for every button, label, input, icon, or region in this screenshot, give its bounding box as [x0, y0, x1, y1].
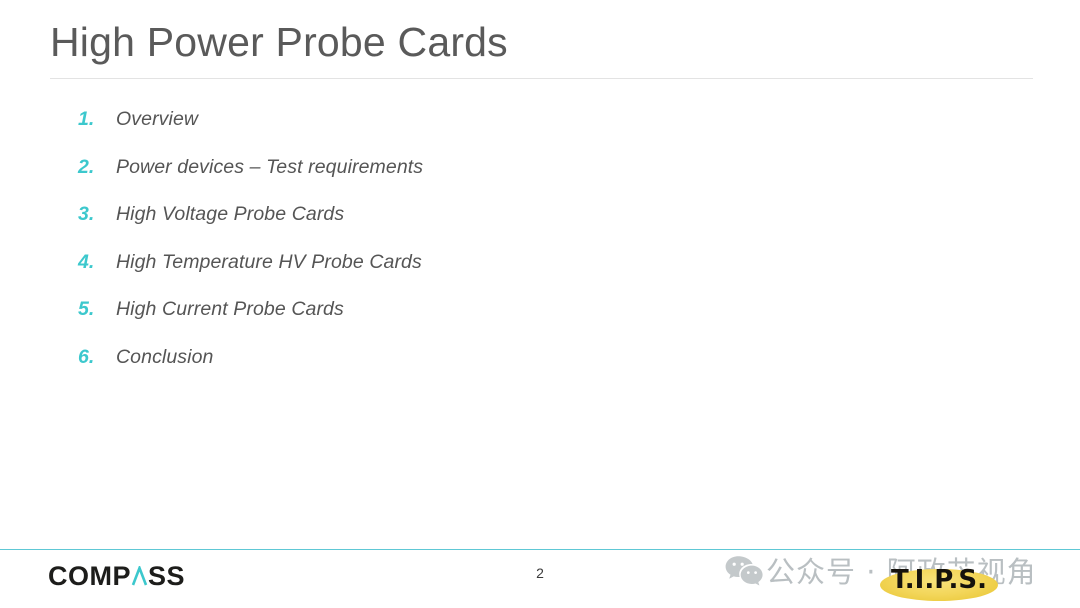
list-item[interactable]: 6. Conclusion [78, 346, 878, 394]
list-item-number: 1. [78, 108, 116, 131]
wechat-icon [724, 554, 764, 586]
list-item-label: Conclusion [116, 346, 213, 369]
list-item[interactable]: 3. High Voltage Probe Cards [78, 203, 878, 251]
list-item-label: High Current Probe Cards [116, 298, 344, 321]
list-item[interactable]: 2. Power devices – Test requirements [78, 156, 878, 204]
list-item-number: 6. [78, 346, 116, 369]
list-item-label: High Voltage Probe Cards [116, 203, 344, 226]
list-item-number: 3. [78, 203, 116, 226]
list-item-number: 5. [78, 298, 116, 321]
list-item-label: High Temperature HV Probe Cards [116, 251, 422, 274]
watermark-overlay: 公众号 · 阿政芯视角 T.I.P.S. [722, 545, 1080, 603]
slide-canvas: High Power Probe Cards 1. Overview 2. Po… [0, 0, 1080, 608]
page-title: High Power Probe Cards [50, 18, 508, 66]
list-item-number: 2. [78, 156, 116, 179]
list-item[interactable]: 5. High Current Probe Cards [78, 298, 878, 346]
agenda-list: 1. Overview 2. Power devices – Test requ… [78, 108, 878, 393]
title-divider [50, 78, 1033, 79]
list-item-label: Overview [116, 108, 198, 131]
tips-badge-label: T.I.P.S. [880, 563, 998, 597]
list-item-label: Power devices – Test requirements [116, 156, 423, 179]
list-item[interactable]: 4. High Temperature HV Probe Cards [78, 251, 878, 299]
list-item[interactable]: 1. Overview [78, 108, 878, 156]
tips-badge: T.I.P.S. [880, 563, 998, 603]
list-item-number: 4. [78, 251, 116, 274]
